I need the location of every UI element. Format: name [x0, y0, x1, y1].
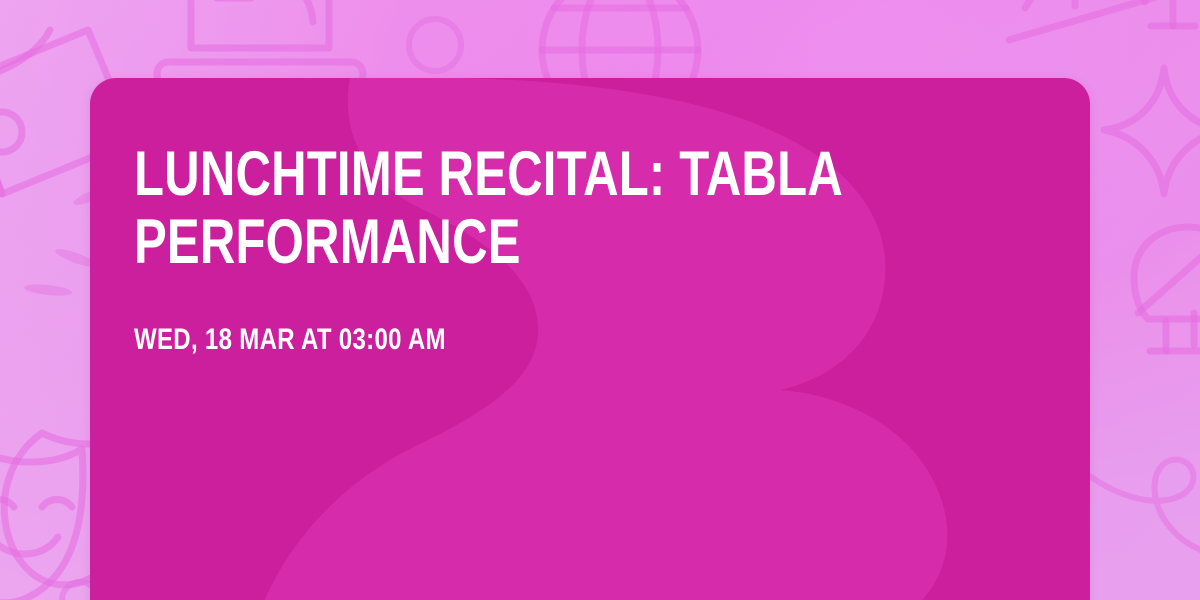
- event-date: Wed, 18 Mar at 03:00 AM: [134, 276, 1030, 356]
- page-title: Lunchtime Recital: Tabla Performance: [134, 140, 1029, 276]
- event-card[interactable]: Lunchtime Recital: Tabla Performance Wed…: [90, 78, 1090, 600]
- card-content: Lunchtime Recital: Tabla Performance Wed…: [134, 140, 1030, 356]
- event-banner: Lunchtime Recital: Tabla Performance Wed…: [0, 0, 1200, 600]
